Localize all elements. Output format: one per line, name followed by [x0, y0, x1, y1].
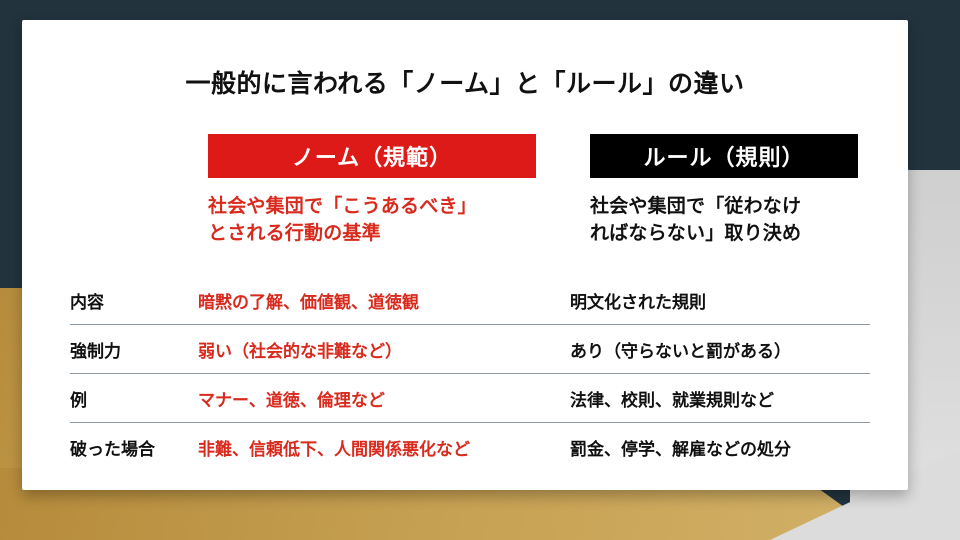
table-row: 強制力 弱い（社会的な非難など） あり（守らないと罰がある）	[70, 325, 870, 374]
row-value-norm: 暗黙の了解、価値観、道徳観	[198, 288, 570, 313]
column-header-norm: ノーム（規範）	[208, 134, 536, 178]
row-value-rule: 法律、校則、就業規則など	[570, 386, 870, 411]
column-lead-rule: 社会や集団で「従わなけ ればならない」取り決め	[590, 194, 890, 248]
table-row: 内容 暗黙の了解、価値観、道徳観 明文化された規則	[70, 276, 870, 325]
row-label: 強制力	[70, 337, 198, 362]
slide-root: 一般的に言われる「ノーム」と「ルール」の違い ノーム（規範） ルール（規則） 社…	[0, 0, 960, 540]
column-header-rule-label: ルール（規則）	[643, 140, 804, 172]
content-card: 一般的に言われる「ノーム」と「ルール」の違い ノーム（規範） ルール（規則） 社…	[22, 20, 908, 490]
row-value-norm: マナー、道徳、倫理など	[198, 386, 570, 411]
column-header-rule: ルール（規則）	[590, 134, 858, 178]
table-row: 例 マナー、道徳、倫理など 法律、校則、就業規則など	[70, 374, 870, 423]
row-label: 破った場合	[70, 435, 198, 460]
page-title: 一般的に言われる「ノーム」と「ルール」の違い	[22, 64, 908, 100]
row-value-norm: 弱い（社会的な非難など）	[198, 337, 570, 362]
column-lead-norm: 社会や集団で「こうあるべき」 とされる行動の基準	[208, 194, 558, 248]
table-row: 破った場合 非難、信頼低下、人間関係悪化など 罰金、停学、解雇などの処分	[70, 423, 870, 471]
row-value-rule: 罰金、停学、解雇などの処分	[570, 435, 870, 460]
column-header-norm-label: ノーム（規範）	[292, 140, 452, 172]
row-value-norm: 非難、信頼低下、人間関係悪化など	[198, 435, 570, 460]
row-label: 内容	[70, 288, 198, 313]
row-value-rule: 明文化された規則	[570, 288, 870, 313]
row-value-rule: あり（守らないと罰がある）	[570, 337, 870, 362]
row-label: 例	[70, 386, 198, 411]
comparison-table: 内容 暗黙の了解、価値観、道徳観 明文化された規則 強制力 弱い（社会的な非難な…	[70, 276, 870, 471]
